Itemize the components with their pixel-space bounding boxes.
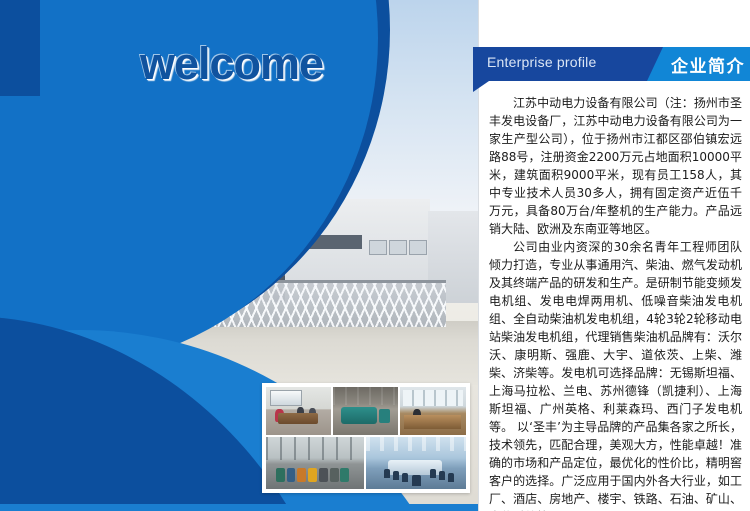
blue-top-block	[0, 0, 40, 96]
person-figure	[309, 408, 316, 419]
thumb-office-meeting	[266, 387, 331, 435]
chair	[412, 475, 421, 485]
thumbnail-collage	[262, 383, 470, 493]
thumb-conference-room	[366, 437, 466, 489]
blue-bottom-strip	[0, 504, 478, 511]
machine-unit	[319, 468, 328, 482]
factory-window	[370, 241, 386, 254]
machine-unit	[308, 468, 317, 482]
poster-page: 江苏中动电力设备有限公司 Jiangsu Zhongdong Power Equ…	[0, 0, 750, 511]
thumb-generator-workshop-image	[333, 387, 398, 435]
thumb-open-office	[400, 387, 466, 435]
person-figure	[413, 409, 421, 421]
chair	[430, 469, 436, 477]
thumb-open-office-image	[400, 387, 466, 435]
chair	[402, 473, 408, 481]
machine-unit	[340, 468, 349, 482]
section-header-ribbon: Enterprise profile 企业简介	[473, 47, 750, 81]
factory-window	[390, 241, 406, 254]
person-figure	[297, 407, 304, 418]
machine-unit	[297, 468, 306, 482]
welcome-headline: welcome	[140, 38, 323, 90]
chair	[439, 471, 445, 479]
thumb-generator-workshop	[333, 387, 398, 435]
thumb-warehouse-units	[266, 437, 364, 489]
chair	[384, 469, 390, 477]
profile-paragraph: 江苏中动电力设备有限公司（注：扬州市圣丰发电设备厂，江苏中动电力设备有限公司为一…	[489, 94, 742, 238]
hero-panel: 江苏中动电力设备有限公司 Jiangsu Zhongdong Power Equ…	[0, 0, 478, 511]
machine-unit	[287, 468, 296, 482]
section-title-en: Enterprise profile	[487, 54, 596, 70]
chair	[448, 473, 454, 481]
thumb-conference-room-image	[366, 437, 466, 489]
profile-body-copy: 江苏中动电力设备有限公司（注：扬州市圣丰发电设备厂，江苏中动电力设备有限公司为一…	[489, 94, 742, 511]
profile-panel: Enterprise profile 企业简介 江苏中动电力设备有限公司（注：扬…	[478, 0, 750, 511]
generator-unit	[379, 409, 391, 422]
chair	[393, 471, 399, 479]
machine-unit	[276, 468, 285, 482]
factory-window	[410, 241, 426, 254]
machine-unit	[330, 468, 339, 482]
thumb-office-meeting-image	[266, 387, 331, 435]
section-title-cn: 企业简介	[671, 52, 745, 77]
thumb-warehouse-units-image	[266, 437, 364, 489]
profile-paragraph: 公司由业内资深的30余名青年工程师团队倾力打造，专业从事通用汽、柴油、燃气发动机…	[489, 238, 742, 511]
person-figure	[275, 409, 283, 421]
ribbon-notch	[473, 81, 489, 92]
